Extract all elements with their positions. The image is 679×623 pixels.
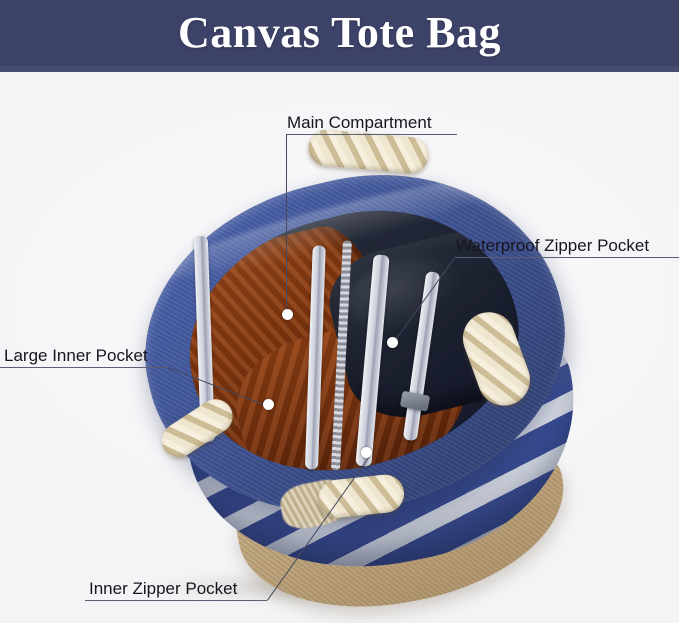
- callout-dot-large-inner-pocket: [263, 399, 274, 410]
- callout-label-waterproof-zipper-pocket: Waterproof Zipper Pocket: [456, 235, 649, 256]
- callout-leader-line-main-compartment: [286, 134, 287, 309]
- callout-underline-main-compartment: [287, 134, 457, 135]
- callout-underline-waterproof-zipper-pocket: [456, 257, 679, 258]
- infographic-root: Canvas Tote Bag: [0, 0, 679, 623]
- callout-label-inner-zipper-pocket: Inner Zipper Pocket: [89, 578, 237, 599]
- callout-underline-large-inner-pocket: [0, 367, 168, 368]
- page-title: Canvas Tote Bag: [0, 0, 679, 66]
- callout-dot-waterproof-zipper-pocket: [387, 337, 398, 348]
- callout-dot-main-compartment: [282, 309, 293, 320]
- callout-label-large-inner-pocket: Large Inner Pocket: [4, 345, 148, 366]
- callout-dot-inner-zipper-pocket: [361, 447, 372, 458]
- callout-underline-inner-zipper-pocket: [85, 600, 267, 601]
- callout-label-main-compartment: Main Compartment: [287, 112, 432, 133]
- rope-handle-top-right: [307, 128, 430, 174]
